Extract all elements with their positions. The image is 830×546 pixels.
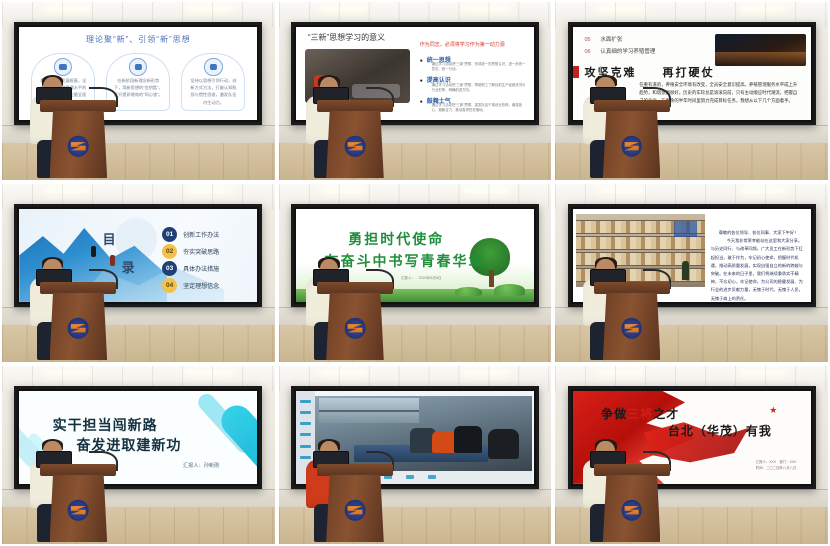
slide-meta: 汇报人：XXX 部门：XXX 时间：二〇二四年八月八日 (756, 459, 797, 471)
company-z-logo (68, 318, 89, 339)
slide-line-1: 勇担时代使命 (348, 229, 444, 249)
agenda-row-03: 03 具体办法措施 (162, 261, 219, 276)
podium-body (326, 293, 384, 360)
agenda-label: 坚定理想信念 (183, 281, 219, 290)
climber-icon (91, 246, 96, 257)
person-figure-orange-vest (432, 431, 456, 453)
company-z-logo (621, 136, 642, 157)
office-chair (488, 429, 518, 459)
podium (599, 282, 664, 360)
company-z-logo (68, 500, 89, 521)
podium-body (50, 293, 108, 360)
reporter-label: 汇报人：孙新刚 (183, 462, 219, 469)
bullet-text-1: 通过学习活动把“三新”思想、形成统一的思想认识，进一步统一意志、统一行动。 (432, 62, 527, 73)
agenda-label: 水面扩张 (600, 37, 622, 43)
agenda-badge: 03 (162, 261, 177, 276)
bullet-text-3: 通过学习活动把“三新”思想、激发队伍干事创业热情，增强信心、凝聚合力，推动各项任… (432, 103, 527, 114)
tree-trunk (489, 270, 494, 287)
slide-title: 理论聚“新”、引领“新”思想 (19, 34, 257, 45)
podium (46, 464, 111, 542)
agenda-row-04: 04 坚定理想信念 (162, 278, 219, 293)
podium-top (594, 464, 670, 477)
podium-body (326, 475, 384, 542)
agenda-badge: 01 (162, 227, 177, 242)
podium-top (317, 100, 393, 113)
podium-body (603, 475, 661, 542)
podium-body (50, 111, 108, 178)
agenda-badge: 04 (162, 278, 177, 293)
photo-cell-3[interactable]: 05 水面扩张 06 认真细的学习养殖管理 攻坚克难 再打硬仗 任重有道的，养殖… (555, 2, 828, 180)
podium-body (50, 475, 108, 542)
slide-line-2: 台北（华茂）有我 (668, 422, 772, 439)
podium (322, 282, 387, 360)
window-shape (319, 398, 419, 423)
agenda-item-06: 06 认真细的学习养殖管理 (584, 47, 655, 55)
photo-cell-7[interactable]: 实干担当闯新路 奋发进取建新功 汇报人：孙新刚 (2, 366, 275, 544)
podium (599, 100, 664, 178)
meta-line-1: 汇报人：XXX 部门：XXX (756, 459, 797, 465)
podium-top (40, 282, 116, 295)
podium-body (326, 111, 384, 178)
company-z-logo (345, 318, 366, 339)
photo-cell-8[interactable] (279, 366, 552, 544)
speech-body: 今天我非常荣幸能站在这里和大家分享。与历史同行、与改革同频，广大员工在新形势下扛… (711, 237, 804, 302)
podium-top (317, 282, 393, 295)
line1-highlight: 三将 (627, 407, 653, 421)
bullet-text-2: 通过学习活动把“三新”思想、帮助职工了解目前生产经营状况与行业形势，明确前进方向… (432, 83, 527, 94)
agenda-char-2: 录 (122, 257, 135, 276)
agenda-row-01: 01 创新工作办法 (162, 227, 219, 242)
podium-top (594, 282, 670, 295)
speech-greeting: 尊敬的各位领导、各位同事、大家下午好！ (719, 230, 799, 235)
photo-cell-9[interactable]: ★ 争做三将之才 台北（华茂）有我 汇报人：XXX 部门：XXX 时间：二〇二四… (555, 366, 828, 544)
podium (322, 100, 387, 178)
agenda-label: 夯实突破思路 (183, 247, 219, 256)
slide-title: “三新”思想学习的意义 (308, 32, 385, 43)
pillar-text: 在新阶段新理念新形势下，用新思想的“金钥匙”，打开提质增效的“同心锁”。 (113, 77, 163, 98)
photo-cell-6[interactable]: 尊敬的各位领导、各位同事、大家下午好！ 今天我非常荣幸能站在这里和大家分享。与历… (555, 184, 828, 362)
agenda-row-02: 02 夯实突破思路 (162, 244, 219, 259)
podium-top (594, 100, 670, 113)
fish-icon (54, 58, 72, 76)
worker-figure (682, 261, 690, 280)
photo-cell-5[interactable]: 勇担时代使命 在奋斗中书写青春华章 汇报人： 2024年8月8日 (279, 184, 552, 362)
slide-line-1: 实干担当闯新路 (53, 415, 158, 435)
cloud-lock-icon (129, 58, 147, 76)
photo-cell-4[interactable]: 目 录 01 创新工作办法 02 夯实突破思路 03 具体办法措施 04 坚定理… (2, 184, 275, 362)
line1-part-a: 争做 (601, 407, 627, 421)
company-z-logo (621, 500, 642, 521)
slide-line-1: 争做三将之才 (601, 405, 679, 422)
agenda-char-1: 目 (103, 229, 116, 248)
bush-icon (494, 284, 525, 296)
slide-meta: 汇报人： 2024年8月8日 (401, 276, 442, 281)
agenda-label: 具体办法措施 (183, 264, 219, 273)
podium-top (40, 464, 116, 477)
pillar-3: 坚持以思想引领行动，创新方式方法，打破认知瓶颈与惯性思维，激发队伍内生动力。 (181, 53, 245, 111)
company-z-logo (621, 318, 642, 339)
podium-top (317, 464, 393, 477)
line1-part-c: 之才 (653, 407, 679, 421)
climber-icon (110, 255, 115, 266)
inset-photo-pond (715, 34, 805, 66)
podium (46, 100, 111, 178)
podium-top (40, 100, 116, 113)
podium (322, 464, 387, 542)
meta-line-2: 时间：二〇二四年八月八日 (756, 465, 797, 471)
photo-grid: 理论聚“新”、引领“新”思想 稳固养殖业发展根基，全力提升、检验管理水平的工作理… (0, 0, 830, 546)
company-z-logo (345, 136, 366, 157)
company-z-logo (345, 500, 366, 521)
star-icon: ★ (769, 405, 777, 416)
podium-body (603, 111, 661, 178)
agenda-label: 认真细的学习养殖管理 (600, 49, 655, 55)
agenda-label: 创新工作办法 (183, 230, 219, 239)
pillar-text: 坚持以思想引领行动，创新方式方法，打破认知瓶颈与惯性思维，激发队伍内生动力。 (189, 77, 239, 106)
agenda-badge: 02 (162, 244, 177, 259)
blue-panel (674, 221, 697, 237)
lightbulb-icon (204, 58, 222, 76)
podium-body (603, 293, 661, 360)
person-figure (454, 426, 482, 453)
bush-icon (455, 287, 481, 296)
photo-cell-2[interactable]: “三新”思想学习的意义 作为同志，必须将学习作为第一动力源 统一思想 通过学习活… (279, 2, 552, 180)
photo-cell-1[interactable]: 理论聚“新”、引领“新”思想 稳固养殖业发展根基，全力提升、检验管理水平的工作理… (2, 2, 275, 180)
company-z-logo (68, 136, 89, 157)
agenda-item-05: 05 水面扩张 (584, 35, 622, 43)
agenda-num: 06 (584, 49, 590, 55)
speech-text: 尊敬的各位领导、各位同事、大家下午好！ 今天我非常荣幸能站在这里和大家分享。与历… (711, 229, 804, 302)
agenda-num: 05 (584, 37, 590, 43)
podium (599, 464, 664, 542)
podium (46, 282, 111, 360)
slide-subtitle: 作为同志，必须将学习作为第一动力源 (420, 41, 505, 48)
